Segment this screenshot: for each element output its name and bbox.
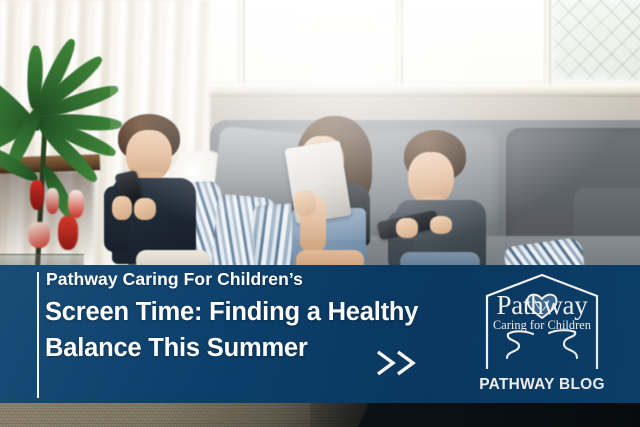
banner-kicker: Pathway Caring For Children’s bbox=[46, 269, 303, 290]
window-sill bbox=[186, 84, 640, 97]
christmas-ornament bbox=[28, 222, 50, 248]
christmas-ornament bbox=[46, 188, 59, 214]
christmas-ornament bbox=[58, 216, 78, 250]
headline-line-1: Screen Time: Finding a Healthy bbox=[45, 294, 475, 330]
pathway-logo[interactable]: Pathway Caring for Children PATHWAY BLOG bbox=[478, 272, 606, 398]
double-chevron-right-icon[interactable] bbox=[374, 347, 426, 379]
banner-graphic: Pathway Caring For Children’s Screen Tim… bbox=[0, 0, 640, 427]
christmas-ornament bbox=[30, 180, 44, 210]
window-mullion bbox=[396, 0, 403, 84]
hand bbox=[396, 218, 418, 238]
window-pane-lattice bbox=[552, 0, 640, 80]
winding-path-icon bbox=[507, 330, 577, 358]
christmas-ornament bbox=[68, 190, 84, 218]
window-pane bbox=[404, 0, 544, 80]
window-mullion bbox=[544, 0, 551, 84]
banner-text-column: Pathway Caring For Children’s Screen Tim… bbox=[46, 265, 466, 403]
title-banner: Pathway Caring For Children’s Screen Tim… bbox=[0, 265, 640, 403]
floor-shadow bbox=[310, 402, 640, 427]
hand bbox=[294, 190, 316, 216]
logo-tagline: Caring for Children bbox=[478, 319, 606, 331]
window-pane bbox=[246, 0, 396, 80]
logo-caption: PATHWAY BLOG bbox=[478, 376, 606, 394]
hand bbox=[112, 196, 132, 220]
window-mullion bbox=[238, 0, 245, 84]
logo-wordmark: Pathway bbox=[478, 292, 606, 319]
hand bbox=[134, 198, 156, 220]
window-with-lattice-grille bbox=[190, 0, 640, 92]
hand bbox=[430, 216, 452, 234]
vertical-rule bbox=[37, 272, 39, 398]
floor-strip bbox=[0, 402, 640, 427]
